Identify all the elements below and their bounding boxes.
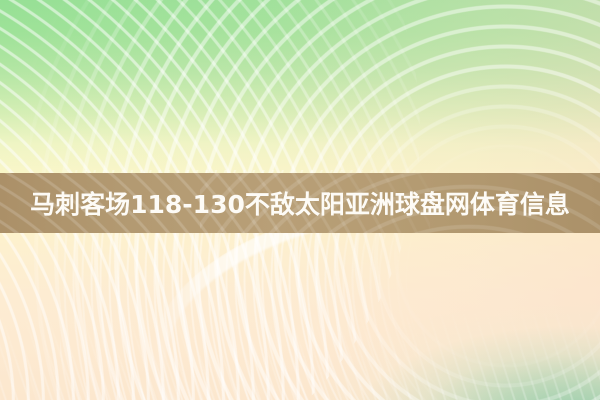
headline-band: 马刺客场118-130不敌太阳亚洲球盘网体育信息 [0,173,600,233]
headline-text: 马刺客场118-130不敌太阳亚洲球盘网体育信息 [0,173,600,233]
promo-banner: 马刺客场118-130不敌太阳亚洲球盘网体育信息 [0,0,600,400]
bottom-edge-stripes [0,310,600,400]
